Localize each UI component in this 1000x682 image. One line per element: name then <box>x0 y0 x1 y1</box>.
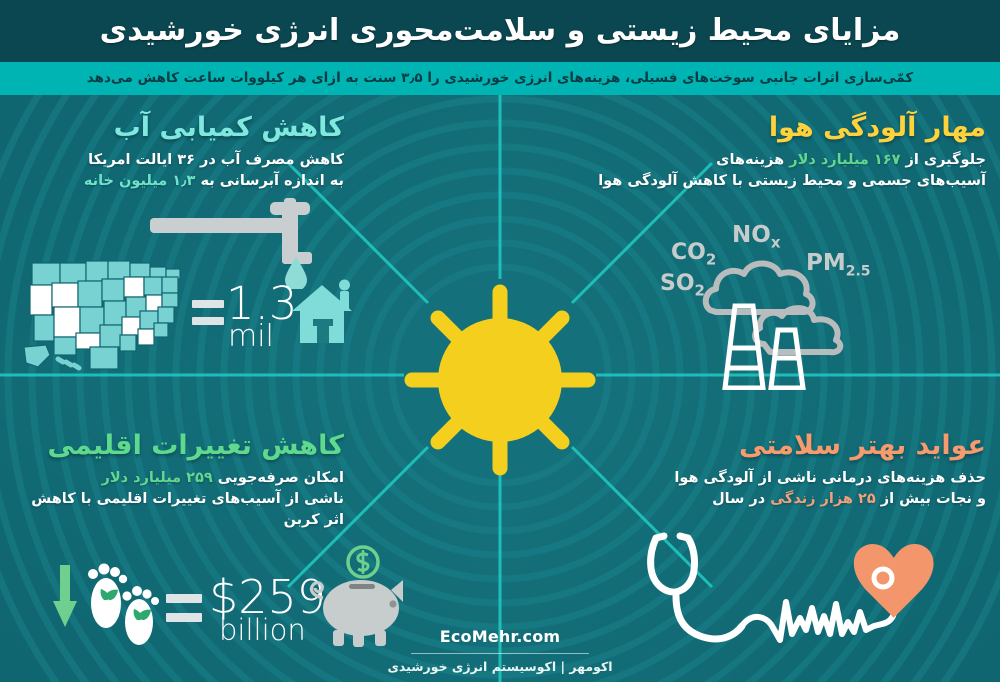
house-icon <box>288 277 360 349</box>
page-subtitle: کمّی‌سازی اثرات جانبی سوخت‌های فسیلی، هز… <box>0 62 1000 95</box>
section-air-heading: مهار آلودگی هوا <box>560 112 986 143</box>
nox-formula: NO <box>732 222 771 248</box>
section-climate: کاهش تغییرات اقلیمی امکان صرفه‌جویی ۲۵۹ … <box>14 430 344 531</box>
footer-tagline: اکومهر | اکوسیستم انرژی خورشیدی <box>0 659 1000 674</box>
down-arrow-icon <box>52 565 78 630</box>
air-line1-highlight: ۱۶۷ میلیارد دلار <box>789 152 900 168</box>
smokestack-icon <box>713 300 823 390</box>
subtitle-bar: کمّی‌سازی اثرات جانبی سوخت‌های فسیلی، هز… <box>0 62 1000 95</box>
so2-formula: SO <box>660 271 695 296</box>
footer: EcoMehr.com اکومهر | اکوسیستم انرژی خورش… <box>0 627 1000 682</box>
footer-site-name[interactable]: EcoMehr.com <box>0 627 1000 646</box>
footer-divider <box>411 653 589 654</box>
section-water-body-line1: کاهش مصرف آب در ۳۶ ایالت امریکا <box>14 150 344 171</box>
section-water-heading: کاهش کمیابی آب <box>14 112 344 143</box>
section-climate-heading: کاهش تغییرات اقلیمی <box>14 430 344 461</box>
section-air-body: جلوگیری از ۱۶۷ میلیارد دلار هزینه‌های آس… <box>560 150 986 192</box>
section-health-heading: عواید بهتر سلامتی <box>560 430 986 461</box>
air-line1-pre: جلوگیری از <box>900 152 986 168</box>
dollar-coin-icon <box>348 547 378 577</box>
water-line2-pre: به اندازه آبرسانی به <box>195 173 344 189</box>
equals-sign-climate <box>166 594 202 622</box>
health-line2-pre: و نجات بیش از <box>876 491 986 507</box>
air-line1-post: هزینه‌های <box>716 152 789 168</box>
water-line2-highlight: ۱٫۳ میلیون خانه <box>84 173 196 189</box>
climate-line1-highlight: ۲۵۹ میلیارد دلار <box>102 470 213 486</box>
section-health-body-line2: و نجات بیش از ۲۵ هزار زندگی در سال <box>560 489 986 510</box>
health-line2-highlight: ۲۵ هزار زندگی <box>770 491 875 507</box>
header-bar: مزایای محیط زیستی و سلامت‌محوری انرژی خو… <box>0 0 1000 62</box>
section-air: مهار آلودگی هوا جلوگیری از ۱۶۷ میلیارد د… <box>560 112 986 192</box>
section-health: عواید بهتر سلامتی حذف هزینه‌های درمانی ن… <box>560 430 986 510</box>
section-water: کاهش کمیابی آب کاهش مصرف آب در ۳۶ ایالت … <box>14 112 344 192</box>
section-water-body-line2: به اندازه آبرسانی به ۱٫۳ میلیون خانه <box>14 171 344 192</box>
section-climate-body-line2: ناشی از آسیب‌های تغییرات اقلیمی با کاهش … <box>14 489 344 531</box>
pollutant-label-so2: SO2 <box>660 271 705 299</box>
section-climate-body-line1: امکان صرفه‌جویی ۲۵۹ میلیارد دلار <box>14 468 344 489</box>
health-line2-post: در سال <box>712 491 770 507</box>
infographic-poster: مزایای محیط زیستی و سلامت‌محوری انرژی خو… <box>0 0 1000 682</box>
section-health-body: حذف هزینه‌های درمانی ناشی از آلودگی هوا … <box>560 468 986 510</box>
page-title: مزایای محیط زیستی و سلامت‌محوری انرژی خو… <box>0 0 1000 62</box>
section-climate-body: امکان صرفه‌جویی ۲۵۹ میلیارد دلار ناشی از… <box>14 468 344 531</box>
section-water-body: کاهش مصرف آب در ۳۶ ایالت امریکا به انداز… <box>14 150 344 192</box>
us-map-icon <box>20 255 190 375</box>
section-air-body-line2: آسیب‌های جسمی و محیط زیستی با کاهش آلودگ… <box>560 171 986 192</box>
section-air-body-line1: جلوگیری از ۱۶۷ میلیارد دلار هزینه‌های <box>560 150 986 171</box>
equals-sign-water <box>192 300 224 325</box>
climate-line1-pre: امکان صرفه‌جویی <box>213 470 344 486</box>
water-stat-unit: mil <box>228 323 274 352</box>
section-health-body-line1: حذف هزینه‌های درمانی ناشی از آلودگی هوا <box>560 468 986 489</box>
